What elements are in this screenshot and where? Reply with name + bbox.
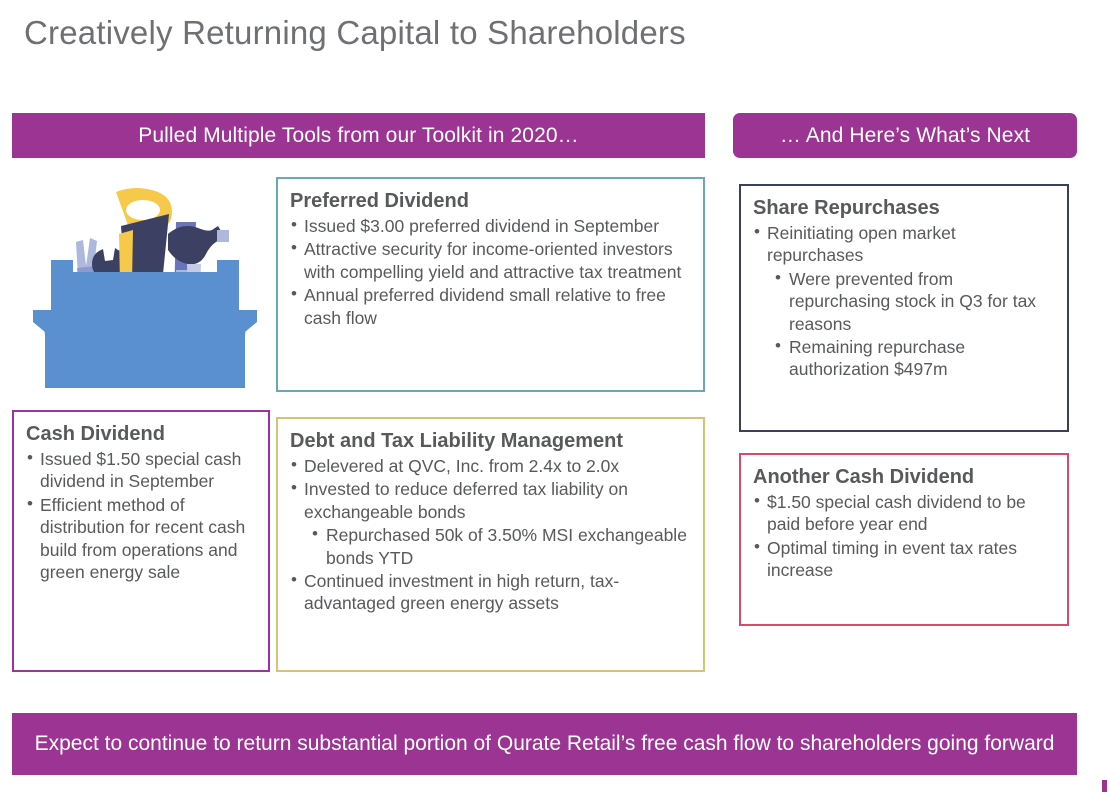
list-item: Annual preferred dividend small relative… xyxy=(290,284,691,329)
header-bar-right-label: … And Here’s What’s Next xyxy=(780,124,1030,148)
card-title-preferred-dividend: Preferred Dividend xyxy=(290,189,691,213)
card-another-cash-dividend: Another Cash Dividend $1.50 special cash… xyxy=(739,453,1069,626)
header-bar-left: Pulled Multiple Tools from our Toolkit i… xyxy=(12,113,705,158)
list-item: Issued $3.00 preferred dividend in Septe… xyxy=(290,215,691,237)
toolbox-bottom xyxy=(43,318,247,388)
list-item: Continued investment in high return, tax… xyxy=(290,570,691,615)
bullet-list-another-cash-dividend: $1.50 special cash dividend to be paid b… xyxy=(753,491,1055,582)
header-bar-left-label: Pulled Multiple Tools from our Toolkit i… xyxy=(138,124,578,148)
bullet-list-share-repurchases: Reinitiating open market repurchases Wer… xyxy=(753,222,1055,381)
page-title: Creatively Returning Capital to Sharehol… xyxy=(24,14,686,52)
card-debt-tax-management: Debt and Tax Liability Management Deleve… xyxy=(276,417,705,672)
list-item-sub: Repurchased 50k of 3.50% MSI exchangeabl… xyxy=(290,524,691,569)
bottom-banner-text: Expect to continue to return substantial… xyxy=(35,730,1055,757)
bullet-list-debt-tax-management: Delevered at QVC, Inc. from 2.4x to 2.0x… xyxy=(290,455,691,615)
card-title-cash-dividend: Cash Dividend xyxy=(26,422,256,446)
card-preferred-dividend: Preferred Dividend Issued $3.00 preferre… xyxy=(276,177,705,392)
header-bar-right: … And Here’s What’s Next xyxy=(733,113,1077,158)
card-share-repurchases: Share Repurchases Reinitiating open mark… xyxy=(739,184,1069,432)
list-item: Reinitiating open market repurchases xyxy=(753,222,1055,267)
card-title-another-cash-dividend: Another Cash Dividend xyxy=(753,465,1055,489)
slide-root: Creatively Returning Capital to Sharehol… xyxy=(0,0,1109,794)
list-item: Optimal timing in event tax rates increa… xyxy=(753,537,1055,582)
hammer-claw xyxy=(217,230,229,242)
card-cash-dividend: Cash Dividend Issued $1.50 special cash … xyxy=(12,410,270,672)
bullet-list-cash-dividend: Issued $1.50 special cash dividend in Se… xyxy=(26,448,256,583)
card-title-debt-tax-management: Debt and Tax Liability Management xyxy=(290,429,691,453)
toolbox-icon xyxy=(33,182,257,394)
bullet-list-preferred-dividend: Issued $3.00 preferred dividend in Septe… xyxy=(290,215,691,329)
list-item: Issued $1.50 special cash dividend in Se… xyxy=(26,448,256,493)
corner-mark xyxy=(1102,780,1107,792)
list-item: Attractive security for income-oriented … xyxy=(290,238,691,283)
list-item-sub: Remaining repurchase authorization $497m xyxy=(753,336,1055,381)
list-item-sub: Were prevented from repurchasing stock i… xyxy=(753,268,1055,335)
list-item: Delevered at QVC, Inc. from 2.4x to 2.0x xyxy=(290,455,691,477)
list-item: $1.50 special cash dividend to be paid b… xyxy=(753,491,1055,536)
list-item: Efficient method of distribution for rec… xyxy=(26,494,256,584)
card-title-share-repurchases: Share Repurchases xyxy=(753,196,1055,220)
list-item: Invested to reduce deferred tax liabilit… xyxy=(290,478,691,523)
hammer-head xyxy=(168,226,224,264)
saw-handle-hole xyxy=(126,200,160,220)
bottom-banner: Expect to continue to return substantial… xyxy=(12,713,1077,775)
